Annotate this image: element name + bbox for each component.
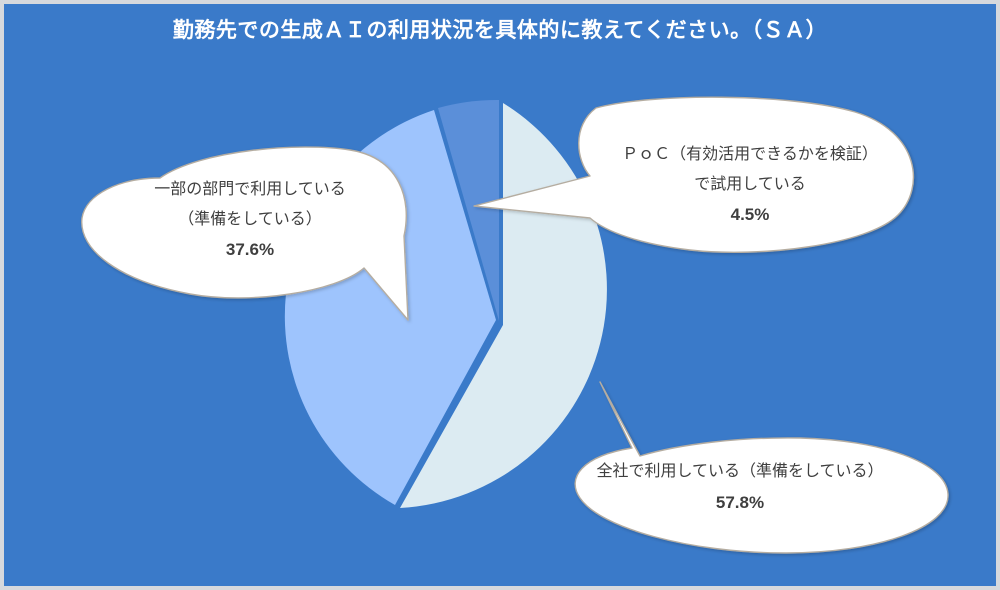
pie-chart-canvas: [0, 0, 1000, 590]
callout-all-company: [575, 382, 948, 553]
callout-all-company-shape: [575, 382, 948, 553]
page-title: 勤務先での生成ＡＩの利用状況を具体的に教えてください。（ＳＡ）: [0, 14, 1000, 44]
pie-chart-infographic: 勤務先での生成ＡＩの利用状況を具体的に教えてください。（ＳＡ） ＰｏＣ（有効活用…: [0, 0, 1000, 590]
